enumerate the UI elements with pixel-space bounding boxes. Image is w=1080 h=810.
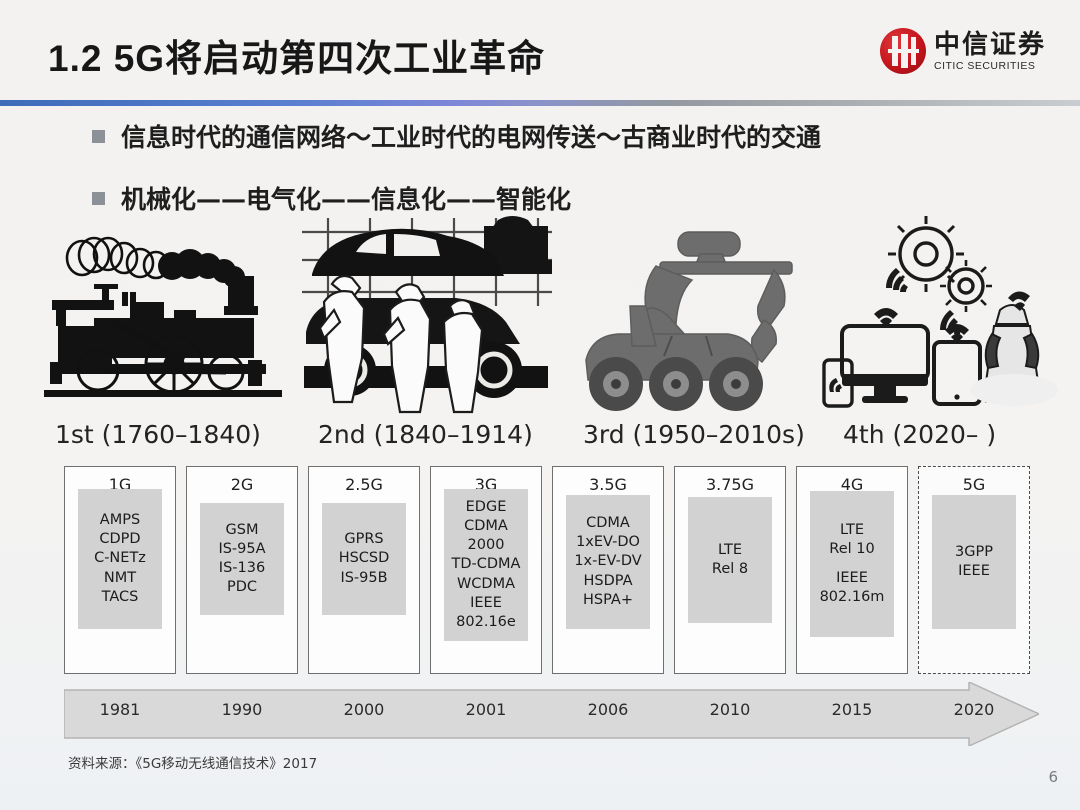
tech-item: PDC	[227, 578, 257, 597]
generation-header: 5G	[963, 473, 986, 497]
tech-item: TD-CDMA	[452, 555, 521, 574]
tech-item: NMT	[104, 569, 136, 588]
generation-box-3-5g[interactable]: 3.5GCDMA1xEV-DO1x-EV-DVHSDPAHSPA+	[552, 466, 664, 674]
generation-box-5g[interactable]: 5G3GPPIEEE	[918, 466, 1030, 674]
tech-item: AMPS	[100, 511, 140, 530]
bullet-item: 信息时代的通信网络～工业时代的电网传送～古商业时代的交通	[92, 118, 992, 154]
generation-tech-list: LTERel 10IEEE802.16m	[810, 491, 894, 637]
slide-header: 1.2 5G将启动第四次工业革命 中信证券 CITIC SECURITIES	[0, 0, 1080, 101]
timeline-years: 19811990200020012006201020152020	[64, 682, 1039, 746]
tech-item: C-NETz	[94, 549, 146, 568]
timeline-year: 2010	[690, 700, 770, 719]
page-number: 6	[1048, 768, 1058, 786]
bullet-square-icon	[92, 130, 105, 143]
generation-tech-list: CDMA1xEV-DO1x-EV-DVHSDPAHSPA+	[566, 495, 650, 629]
tech-item: 802.16e	[456, 613, 516, 632]
tech-item: IEEE	[470, 594, 502, 613]
logo-name-cn: 中信证券	[934, 31, 1046, 57]
source-note: 资料来源：《5G移动无线通信技术》2017	[68, 752, 317, 772]
tech-item: IS-136	[219, 559, 265, 578]
bullet-text: 信息时代的通信网络～工业时代的电网传送～古商业时代的交通	[121, 118, 821, 154]
tech-item: 3GPP	[955, 543, 993, 562]
generation-box-3g[interactable]: 3GEDGECDMA2000TD-CDMAWCDMAIEEE802.16e	[430, 466, 542, 674]
tech-item: CDMA	[464, 517, 508, 536]
citic-logo-icon	[880, 28, 926, 74]
slide: 1.2 5G将启动第四次工业革命 中信证券 CITIC SECURITIES 信…	[0, 0, 1080, 810]
tech-item: LTE	[840, 521, 864, 540]
tech-item: Rel 8	[712, 560, 748, 579]
era-label-2: 2nd (1840–1914)	[318, 420, 533, 449]
bullet-square-icon	[92, 192, 105, 205]
timeline-year: 2001	[446, 700, 526, 719]
bullet-text: 机械化——电气化——信息化——智能化	[121, 180, 571, 216]
tech-item: Rel 10	[829, 540, 874, 559]
tech-item: IS-95B	[340, 569, 387, 588]
generation-box-2-5g[interactable]: 2.5GGPRSHSCSDIS-95B	[308, 466, 420, 674]
tech-item: IS-95A	[218, 540, 265, 559]
generation-tech-list: GSMIS-95AIS-136PDC	[200, 503, 284, 615]
tech-item: HSPA+	[583, 591, 633, 610]
tech-item: HSDPA	[583, 572, 632, 591]
generation-header: 3.5G	[589, 473, 627, 497]
tech-item: EDGE	[466, 498, 507, 517]
robotic-rover-illustration	[560, 214, 818, 422]
tech-item: IEEE	[836, 569, 868, 588]
generation-box-row: 1GAMPSCDPDC-NETzNMTTACS2GGSMIS-95AIS-136…	[64, 466, 1039, 674]
tech-item: IEEE	[958, 562, 990, 581]
tech-item: 802.16m	[820, 588, 885, 607]
timeline-year: 1990	[202, 700, 282, 719]
generation-tech-list: GPRSHSCSDIS-95B	[322, 503, 406, 615]
timeline-year: 2006	[568, 700, 648, 719]
generation-box-1g[interactable]: 1GAMPSCDPDC-NETzNMTTACS	[64, 466, 176, 674]
tech-item: WCDMA	[457, 575, 515, 594]
logo-name-en: CITIC SECURITIES	[934, 61, 1046, 72]
company-logo: 中信证券 CITIC SECURITIES	[880, 22, 1066, 80]
page-title: 1.2 5G将启动第四次工业革命	[48, 28, 545, 82]
timeline-year: 1981	[80, 700, 160, 719]
tech-item: CDPD	[99, 530, 140, 549]
generation-box-2g[interactable]: 2GGSMIS-95AIS-136PDC	[186, 466, 298, 674]
tech-item: HSCSD	[339, 549, 390, 568]
generation-header: 3.75G	[706, 473, 754, 497]
header-divider	[0, 100, 1080, 106]
generation-header: 2.5G	[345, 473, 383, 497]
timeline-arrow: 19811990200020012006201020152020	[64, 682, 1039, 746]
timeline-year: 2015	[812, 700, 892, 719]
generation-tech-list: 3GPPIEEE	[932, 495, 1016, 629]
tech-item: 2000	[468, 536, 505, 555]
tech-item: CDMA	[586, 514, 630, 533]
timeline-year: 2020	[934, 700, 1014, 719]
tech-item: GPRS	[344, 530, 383, 549]
era-labels: 1st (1760–1840) 2nd (1840–1914) 3rd (195…	[28, 420, 1052, 456]
automobile-assembly-line-illustration	[298, 214, 556, 422]
illustration-strip	[28, 214, 1052, 422]
steam-locomotive-illustration	[34, 214, 292, 422]
tech-item: 1xEV-DO	[576, 533, 640, 552]
tech-item: 1x-EV-DV	[574, 552, 641, 571]
generation-header: 2G	[231, 473, 254, 497]
generation-tech-list: LTERel 8	[688, 497, 772, 623]
era-label-3: 3rd (1950–2010s)	[583, 420, 805, 449]
timeline-year: 2000	[324, 700, 404, 719]
generation-tech-list: AMPSCDPDC-NETzNMTTACS	[78, 489, 162, 629]
generation-tech-list: EDGECDMA2000TD-CDMAWCDMAIEEE802.16e	[444, 489, 528, 641]
era-label-1: 1st (1760–1840)	[55, 420, 261, 449]
generation-box-4g[interactable]: 4GLTERel 10IEEE802.16m	[796, 466, 908, 674]
tech-item: TACS	[102, 588, 139, 607]
iot-devices-illustration	[818, 214, 1058, 422]
bullet-item: 机械化——电气化——信息化——智能化	[92, 180, 992, 216]
tech-item: GSM	[226, 521, 259, 540]
era-label-4: 4th (2020– )	[843, 420, 996, 449]
tech-item: LTE	[718, 541, 742, 560]
generation-box-3-75g[interactable]: 3.75GLTERel 8	[674, 466, 786, 674]
